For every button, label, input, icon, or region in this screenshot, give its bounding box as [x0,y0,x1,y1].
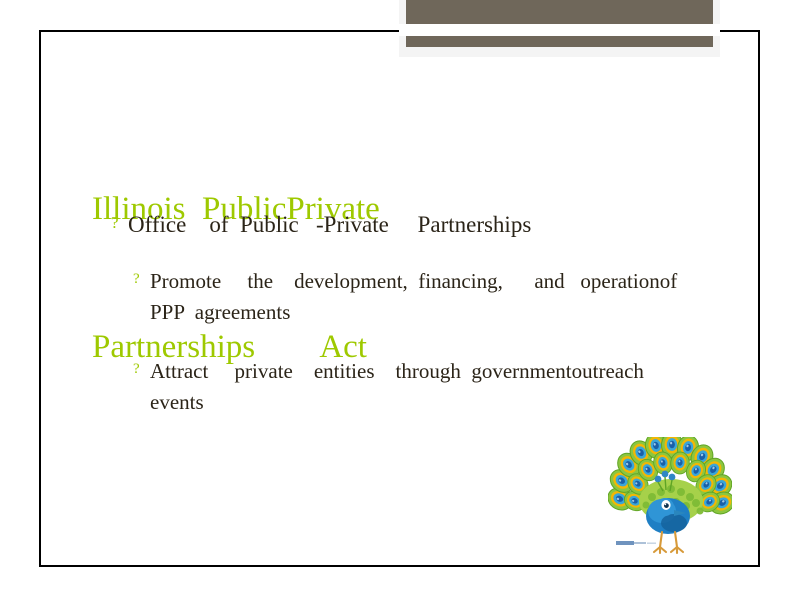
bullet-text: Promote the development, financing, and … [150,264,739,328]
bullet-item-office: ? Office of Public -Private Partnerships [39,200,739,242]
slide-body: ? Office of Public -Private Partnerships… [39,200,739,418]
bullet-marker-icon: ? [111,213,119,233]
slide-canvas: Illinois PublicPrivate Partnerships Act … [0,0,800,600]
spacer [39,242,739,264]
bullet-marker-icon: ? [133,361,140,378]
spacer [39,328,739,354]
bullet-text: Attract private entities through governm… [150,354,739,418]
watermark-stripe [616,541,656,545]
bullet-text: Office of Public -Private Partnerships [128,200,739,242]
frame-banner-gap [399,24,720,36]
bullet-item-promote: ? Promote the development, financing, an… [39,264,739,328]
peacock-image [608,437,732,557]
bullet-marker-icon: ? [133,271,140,288]
bullet-item-attract: ? Attract private entities through gover… [39,354,739,418]
